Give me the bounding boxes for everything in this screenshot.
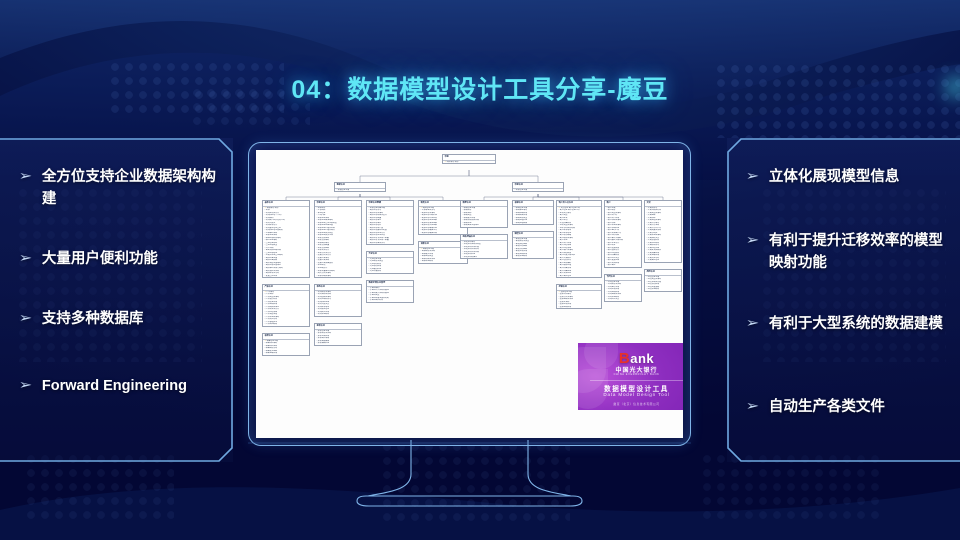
list-item[interactable]: ➢ Forward Engineering	[20, 375, 187, 397]
chevron-right-icon: ➢	[746, 396, 760, 416]
erd-entity-attribute: 字典项维护机构	[367, 299, 413, 302]
erd-entity[interactable]: 风险信息风险信息主键风险类型及编码风险评级及分值风险识别日期风险处置措施风险状态…	[644, 269, 682, 292]
erd-entity[interactable]: 申报信息明细申报信息明细主键商品项号序号商品项号及编码商品项号规格及型号商品项号…	[366, 200, 414, 245]
list-item[interactable]: ➢ 有利于大型系统的数据建模	[747, 313, 943, 335]
monitor-mockup: 申报申报编号·编号票据信息票据信息主键申报信息申报信息主键基本信息票据编号·编号…	[248, 142, 691, 446]
erd-entity-attribute: 凭证作废标识	[367, 270, 413, 273]
erd-entity[interactable]: 数据字典信息管理字典项编码字典项中文名称及描述字典项英文名称及描述字典项类型字典…	[366, 280, 414, 303]
list-item-label: 大量用户便利功能	[42, 248, 158, 270]
erd-entity-attribute: 申报币制及编码	[315, 275, 361, 278]
erd-entity[interactable]: 账户账户主键账户编号账户类型及编码账户开户行账户开户日期账户币种及编码账户余额账…	[604, 200, 642, 268]
list-item-label: 有利于提升迁移效率的模型映射功能	[769, 230, 944, 274]
erd-entity-attribute: 报表审核状态	[315, 342, 361, 345]
list-item-label: 立体化展现模型信息	[769, 166, 900, 188]
erd-entity[interactable]: 机构信息机构编号及编码机构名称及简称机构层级及编码机构上级机构号机构所在区域机构…	[314, 284, 362, 317]
product-logo-card: Bank 中国光大银行 CHINA EVERBRIGHT BANK 数据模型设计…	[578, 343, 683, 410]
right-bullet-list: ➢ 立体化展现模型信息 ➢ 有利于提升迁移效率的模型映射功能 ➢ 有利于大型系统…	[727, 138, 960, 462]
erd-entity[interactable]: 客户及人员信息人员信息·客户信息代码客户信息·客户信息代码业务人员编号客户类型客…	[556, 200, 602, 278]
erd-entity[interactable]: 申报信息申报信息主键	[512, 182, 564, 192]
tool-name-en: Data Model Design Tool	[578, 392, 683, 397]
erd-entity-attribute: 抵质押品权属人	[461, 256, 507, 259]
chevron-right-icon: ➢	[746, 313, 760, 333]
erd-entity[interactable]: 产品信息产品编号产品名称产品类型及编码产品发行机构产品起息日期产品到期日期产品期…	[262, 284, 310, 327]
erd-entity-attribute: 台账状态标识	[419, 260, 467, 263]
dot-texture-bottom-right	[700, 452, 880, 522]
list-item-label: 有利于大型系统的数据建模	[769, 313, 943, 335]
chevron-right-icon: ➢	[19, 248, 33, 268]
chevron-right-icon: ➢	[746, 166, 760, 186]
list-item[interactable]: ➢ 有利于提升迁移效率的模型映射功能	[747, 230, 944, 274]
erd-entity-attribute: 交易备注信息	[645, 259, 681, 262]
erd-entity[interactable]: 账册信息账册信息主键账册编号账册名称账册类型账册建立日期账册有效期及日期账册状态…	[460, 200, 508, 228]
list-item-label: Forward Engineering	[42, 375, 187, 397]
erd-entity[interactable]: 交易交易流水号交易日期及时间交易类型及编码交易金额交易币种交易渠道及编码交易对手…	[644, 200, 682, 263]
page-title: 04：数据模型设计工具分享-魔豆	[0, 70, 960, 106]
erd-entity-attribute: 商品项号备案序号	[367, 242, 413, 245]
right-feature-panel: ➢ 立体化展现模型信息 ➢ 有利于提升迁移效率的模型映射功能 ➢ 有利于大型系统…	[727, 138, 960, 462]
erd-entity-attribute: 风险状态标识	[645, 288, 681, 291]
bank-name-en: CHINA EVERBRIGHT BANK	[578, 373, 683, 376]
erd-entity[interactable]: 申报申报编号·编号	[442, 154, 496, 164]
erd-entity[interactable]: 凭证信息凭证信息主键凭证编号及类型凭证领用机构凭证领用日期凭证使用状态凭证作废标…	[366, 251, 414, 274]
erd-entity-attribute: 申报编号·编号	[443, 161, 495, 164]
erd-entity-attribute: 票据信息主键	[335, 189, 385, 192]
erd-entity[interactable]: 报表信息报表信息主键报表编号及名称报表生成日期报表统计周期报表数据来源报表审核状…	[314, 323, 362, 346]
chevron-right-icon: ➢	[19, 308, 33, 328]
erd-entity-attribute: 变更登记主体	[263, 275, 309, 278]
erd-entity[interactable]: 核算信息核算信息主键核算科目编码核算科目名称核算借贷方向核算发生金额核算记账日期	[262, 333, 310, 356]
slide-canvas: 04：数据模型设计工具分享-魔豆 ➢ 全方位支持企业数据架构构建 ➢ 大量用户便…	[0, 0, 960, 540]
erd-entity-attribute: 核算记账日期	[263, 352, 309, 355]
erd-entity[interactable]: 抵质押品信息抵质押品编号抵质押品名称及类型抵质押品评估价值抵质押品评估机构抵质押…	[460, 234, 508, 259]
erd-entity-attribute: 额度状态标识	[513, 255, 553, 258]
list-item[interactable]: ➢ 支持多种数据库	[20, 308, 143, 330]
vendor-name: 魔豆（北京）信息技术有限公司	[578, 402, 683, 406]
chevron-right-icon: ➢	[19, 166, 33, 186]
list-item[interactable]: ➢ 全方位支持企业数据架构构建	[20, 166, 217, 210]
monitor-screen[interactable]: 申报申报编号·编号票据信息票据信息主键申报信息申报信息主键基本信息票据编号·编号…	[256, 150, 683, 438]
left-bullet-list: ➢ 全方位支持企业数据架构构建 ➢ 大量用户便利功能 ➢ 支持多种数据库 ➢ F…	[0, 138, 233, 462]
list-item-label: 全方位支持企业数据架构构建	[42, 166, 217, 210]
logo-divider	[590, 380, 683, 381]
erd-entity[interactable]: 基本信息票据编号·编号名称机构性质及方式机构所在地（入境）机构编码机构统一社会信…	[262, 200, 310, 278]
erd-entity[interactable]: 申报信息申报编号汇总申报单证信息入境口岸申报企业名称申报企业核准编码申报企业登记…	[314, 200, 362, 278]
erd-entity-attribute: 机构状态标识	[315, 313, 361, 316]
list-item-label: 支持多种数据库	[42, 308, 144, 330]
erd-entity-attribute: 产品赎回规则	[263, 323, 309, 326]
erd-entity-attribute: 账户备注	[605, 264, 641, 267]
erd-entity-attribute: 申报信息主键	[513, 189, 563, 192]
list-item[interactable]: ➢ 自动生产各类文件	[747, 396, 885, 418]
erd-entity-attribute: 账册备案主管单位	[461, 224, 507, 227]
erd-entity[interactable]: 核销信息核销信息主键核销单证编号核销申请日期核销结案日期核销业务类型核销处理状态…	[512, 200, 554, 225]
list-item[interactable]: ➢ 大量用户便利功能	[20, 248, 158, 270]
list-item-label: 自动生产各类文件	[769, 396, 885, 418]
erd-entity-attribute: 客户备注信息	[557, 275, 601, 278]
erd-entity-attribute: 核销处理结果	[513, 222, 553, 225]
erd-entity[interactable]: 合同信息合同信息主键合同编号及名称合同签订日期合同生效日期合同到期日期合同金额及…	[604, 274, 642, 302]
erd-entity[interactable]: 担保信息担保信息主键担保合同编号担保方式及编码担保金额及币种担保人名称担保生效日…	[556, 284, 602, 309]
erd-entity-attribute: 合同经办人员	[605, 298, 641, 301]
erd-diagram[interactable]: 申报申报编号·编号票据信息票据信息主键申报信息申报信息主键基本信息票据编号·编号…	[256, 150, 683, 438]
monitor-stand	[248, 440, 691, 520]
chevron-right-icon: ➢	[746, 230, 760, 250]
bank-wordmark-rest: ank	[630, 351, 654, 366]
erd-entity[interactable]: 票据信息票据信息主键	[334, 182, 386, 192]
chevron-right-icon: ➢	[19, 375, 33, 395]
dot-texture-bottom-left	[24, 452, 174, 522]
left-feature-panel: ➢ 全方位支持企业数据架构构建 ➢ 大量用户便利功能 ➢ 支持多种数据库 ➢ F…	[0, 138, 233, 462]
list-item[interactable]: ➢ 立体化展现模型信息	[747, 166, 899, 188]
erd-entity-attribute: 担保到期日期	[557, 306, 601, 309]
erd-entity[interactable]: 额度信息额度信息主键额度编号及类型额度授信金额额度已用金额额度可用金额额度生效日…	[512, 231, 554, 259]
